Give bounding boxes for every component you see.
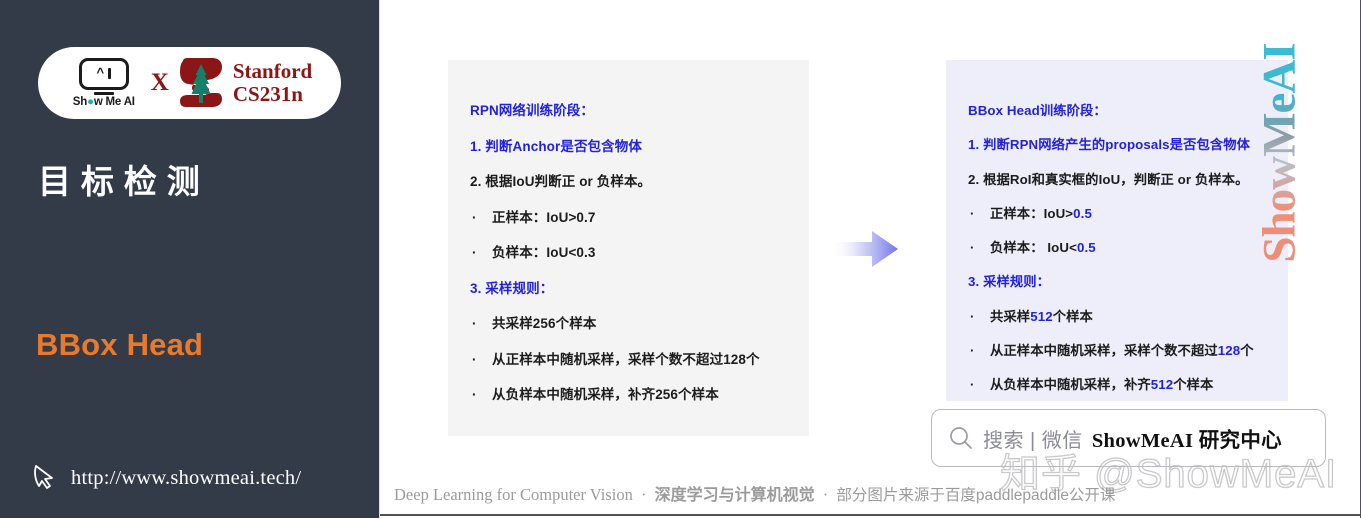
panel-rpn-training: RPN网络训练阶段： 1. 判断Anchor是否包含物体 2. 根据IoU判断正… <box>448 60 809 436</box>
panel-left-item-2: 2. 根据IoU判断正 or 负样本。 <box>470 175 787 189</box>
page-title: 目标检测 <box>38 155 348 203</box>
stanford-tree-svg <box>179 58 223 108</box>
bullet-dot: · <box>472 246 492 260</box>
panel-left-heading: RPN网络训练阶段： <box>470 104 787 118</box>
panel-left-item-3: ·正样本：IoU>0.7 <box>470 211 787 225</box>
showmeai-logo: ^ Sh●w Me AI <box>67 58 141 109</box>
footer-english: Deep Learning for Computer Vision <box>394 485 633 504</box>
chevron-up-icon: ^ <box>96 66 104 79</box>
search-icon <box>948 425 974 451</box>
right-arrow-svg <box>830 226 900 272</box>
panel-right-item-3-text: 正样本：IoU> <box>990 206 1073 221</box>
panel-right-item-5: 3. 采样规则： <box>968 275 1266 288</box>
slide-root: ^ Sh●w Me AI X Stanford CS231n 目标检测 BBox… <box>0 0 1361 518</box>
panel-right-item-8: ·从负样本中随机采样，补齐512个样本 <box>968 378 1266 391</box>
footer-separator-2: · <box>819 485 833 504</box>
stanford-tree-icon <box>179 58 223 108</box>
panel-left-item-3-text: 正样本：IoU>0.7 <box>492 210 596 225</box>
sidebar: ^ Sh●w Me AI X Stanford CS231n 目标检测 BBox… <box>0 0 379 518</box>
cursor-pointer-icon <box>32 463 60 493</box>
bullet-dot: · <box>472 211 492 225</box>
panel-right-item-3: ·正样本：IoU>0.5 <box>968 207 1266 220</box>
panel-right-item-6: ·共采样512个样本 <box>968 310 1266 323</box>
panel-right-item-4-text: 负样本： IoU< <box>990 240 1077 255</box>
panel-left-item-4: ·负样本：IoU<0.3 <box>470 246 787 260</box>
site-url-text[interactable]: http://www.showmeai.tech/ <box>71 467 301 490</box>
panel-right-item-4-value: 0.5 <box>1077 240 1096 255</box>
cross-symbol: X <box>151 69 169 97</box>
panel-left-item-8-text: 从负样本中随机采样，补齐256个样本 <box>492 387 719 402</box>
topic-label: BBox Head <box>36 327 203 363</box>
footer-chinese-bold: 深度学习与计算机视觉 <box>655 487 815 504</box>
panel-left-item-4-text: 负样本：IoU<0.3 <box>492 245 596 260</box>
panel-right-item-7: ·从正样本中随机采样，采样个数不超过128个 <box>968 344 1266 357</box>
panel-left-item-6: ·共采样256个样本 <box>470 317 787 331</box>
panel-right-item-4: ·负样本： IoU<0.5 <box>968 241 1266 254</box>
search-input-placeholder[interactable]: 搜索 | 微信 <box>983 424 1083 453</box>
showmeai-wordmark: Sh●w Me AI <box>73 96 135 108</box>
panel-left-item-7: ·从正样本中随机采样，采样个数不超过128个 <box>470 353 787 367</box>
cursor-bar-icon <box>108 68 111 79</box>
bullet-dot: · <box>970 378 990 391</box>
panel-right-item-7-text: 从正样本中随机采样，采样个数不超过 <box>990 343 1218 358</box>
panel-left-item-6-text: 共采样256个样本 <box>492 316 596 331</box>
panel-right-item-8-tail: 个样本 <box>1173 377 1213 392</box>
footer-separator-1: · <box>637 485 651 504</box>
search-box-brand: ShowMeAI 研究中心 <box>1092 423 1282 453</box>
bullet-dot: · <box>970 310 990 323</box>
panel-right-item-7-tail: 个 <box>1240 343 1253 358</box>
panel-right-item-8-text: 从负样本中随机采样，补齐 <box>990 377 1151 392</box>
panel-right-item-8-value: 512 <box>1151 377 1174 392</box>
main-content: RPN网络训练阶段： 1. 判断Anchor是否包含物体 2. 根据IoU判断正… <box>379 0 1361 518</box>
bullet-dot: · <box>472 317 492 331</box>
bullet-dot: · <box>970 241 990 254</box>
panel-right-item-1: 1. 判断RPN网络产生的proposals是否包含物体 <box>968 138 1266 151</box>
stanford-line-2: CS231n <box>233 83 312 106</box>
footer-rule <box>380 514 1361 516</box>
panel-left-item-5: 3. 采样规则： <box>470 282 787 296</box>
bullet-dot: · <box>472 353 492 367</box>
panel-left-item-7-text: 从正样本中随机采样，采样个数不超过128个 <box>492 352 760 367</box>
logo-badge: ^ Sh●w Me AI X Stanford CS231n <box>38 47 341 119</box>
panel-bboxhead-training: BBox Head训练阶段： 1. 判断RPN网络产生的proposals是否包… <box>946 60 1288 401</box>
bullet-dot: · <box>970 344 990 357</box>
robot-face-icon: ^ <box>79 58 129 90</box>
site-url-row[interactable]: http://www.showmeai.tech/ <box>32 463 301 493</box>
panel-right-item-6-tail: 个样本 <box>1053 309 1093 324</box>
panel-right-item-2: 2. 根据RoI和真实框的IoU，判断正 or 负样本。 <box>968 173 1266 186</box>
panel-right-heading: BBox Head训练阶段： <box>968 104 1266 117</box>
stanford-line-1: Stanford <box>233 60 312 83</box>
footer-chinese-light: 部分图片来源于百度paddlepaddle公开课 <box>836 487 1115 504</box>
panel-right-item-3-value: 0.5 <box>1073 206 1092 221</box>
stanford-course-label: Stanford CS231n <box>233 60 312 105</box>
panel-right-item-6-value: 512 <box>1030 309 1053 324</box>
panel-left-item-8: ·从负样本中随机采样，补齐256个样本 <box>470 388 787 402</box>
bullet-dot: · <box>970 207 990 220</box>
bullet-dot: · <box>472 388 492 402</box>
panel-left-item-1: 1. 判断Anchor是否包含物体 <box>470 140 787 154</box>
wechat-search-box[interactable]: 搜索 | 微信 ShowMeAI 研究中心 <box>931 409 1326 467</box>
panel-right-item-7-value: 128 <box>1218 343 1241 358</box>
right-arrow-icon <box>830 226 900 272</box>
panel-right-item-6-text: 共采样 <box>990 309 1030 324</box>
footer-caption: Deep Learning for Computer Vision · 深度学习… <box>394 481 1354 505</box>
logo-stand-shape <box>94 92 114 96</box>
